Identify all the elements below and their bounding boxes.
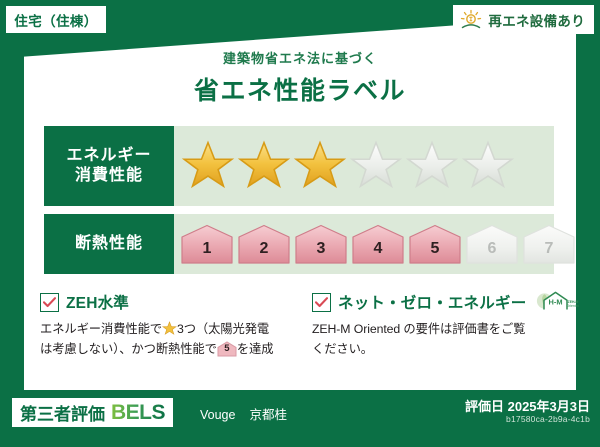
insulation-performance-label: 断熱性能: [44, 214, 174, 274]
net-zero-title: ネット・ゼロ・エネルギー: [338, 291, 526, 313]
net-zero-checkbox[interactable]: [312, 293, 331, 312]
house-step-number: 2: [260, 241, 269, 265]
energy-label-line2: 消費性能: [75, 166, 143, 186]
bels-jp-label: 第三者評価: [20, 400, 105, 425]
house-step-filled: 2: [237, 223, 291, 265]
top-banner: 住宅（住棟） 再エネ設備あり 建築物省エネ法に基づく 省エネ性能ラベル: [0, 0, 600, 118]
zeh-standard-description: エネルギー消費性能で3つ（太陽光発電 は考慮しない）、かつ断熱性能で5を達成: [40, 320, 316, 360]
energy-performance-label: エネルギー 消費性能: [44, 126, 174, 206]
house-strip: 1234567: [174, 223, 576, 265]
star-filled-icon: [292, 139, 348, 193]
property-info: Vouge京都桂: [200, 404, 287, 423]
inline-house-value: 5: [217, 341, 237, 357]
star-filled-icon: [236, 139, 292, 193]
star-empty-icon: [460, 139, 516, 193]
energy-label-root: 住宅（住棟） 再エネ設備あり 建築物省エネ法に基づく 省エネ性能ラベル: [0, 0, 600, 447]
evaluation-id: b17580ca-2b9a-4c1b: [506, 414, 590, 424]
zeh-desc-part3: を達成: [237, 342, 274, 356]
zeh-standard-header: ZEH水準: [40, 290, 316, 314]
star-filled-icon: [180, 139, 236, 193]
house-step-number: 6: [488, 241, 497, 265]
renewable-badge-label: 再エネ設備あり: [488, 10, 585, 30]
house-step-filled: 5: [408, 223, 462, 265]
zeh-desc-star-count: 3つ（太陽光発電: [177, 322, 269, 336]
page-title: 省エネ性能ラベル: [0, 71, 600, 107]
zeh-desc-part1: エネルギー消費性能で: [40, 322, 162, 336]
title-subtitle: 建築物省エネ法に基づく: [0, 48, 600, 67]
net-zero-desc-line2: ください。: [312, 342, 373, 356]
energy-label-line1: エネルギー: [66, 146, 151, 166]
house-step-filled: 1: [180, 223, 234, 265]
checkmark-icon: [315, 297, 328, 308]
renewable-equipment-badge: 再エネ設備あり: [453, 5, 594, 34]
net-zero-desc-line1: ZEH-M Oriented の要件は評価書をご覧: [312, 322, 525, 336]
footer-bar: 第三者評価 BELS Vouge京都桂 評価日 2025年3月3日 b17580…: [0, 390, 600, 447]
house-step-number: 7: [545, 241, 554, 265]
house-step-empty: 7: [522, 223, 576, 265]
house-step-filled: 4: [351, 223, 405, 265]
net-zero-header: ネット・ゼロ・エネルギー H-M ZEH-M Oriented: [312, 290, 588, 314]
house-step-number: 5: [431, 241, 440, 265]
insulation-performance-row: 断熱性能 1234567: [44, 214, 554, 274]
star-empty-icon: [348, 139, 404, 193]
star-strip: [174, 139, 516, 193]
energy-performance-row: エネルギー 消費性能: [44, 126, 554, 206]
house-step-filled: 3: [294, 223, 348, 265]
svg-text:Oriented: Oriented: [567, 304, 580, 308]
star-empty-icon: [404, 139, 460, 193]
zeh-standard-block: ZEH水準 エネルギー消費性能で3つ（太陽光発電 は考慮しない）、かつ断熱性能で…: [40, 290, 316, 360]
zeh-standard-title: ZEH水準: [66, 291, 129, 313]
inline-star-icon: [162, 321, 177, 336]
sun-icon: [459, 9, 483, 31]
zeh-section: ZEH水準 エネルギー消費性能で3つ（太陽光発電 は考慮しない）、かつ断熱性能で…: [24, 290, 576, 386]
zeh-desc-part2: は考慮しない）、かつ断熱性能で: [40, 342, 217, 356]
house-step-empty: 6: [465, 223, 519, 265]
house-type-tag: 住宅（住棟）: [6, 6, 106, 33]
bels-badge: 第三者評価 BELS: [12, 398, 173, 427]
house-step-number: 3: [317, 241, 326, 265]
net-zero-description: ZEH-M Oriented の要件は評価書をご覧 ください。: [312, 320, 588, 360]
energy-star-meter: [174, 126, 554, 206]
checkmark-icon: [43, 297, 56, 308]
house-type-label: 住宅（住棟）: [14, 10, 97, 30]
label-body: エネルギー 消費性能 断熱性能 1234567: [24, 118, 576, 390]
house-step-number: 4: [374, 241, 383, 265]
property-name: Vouge: [200, 408, 235, 422]
insulation-label-text: 断熱性能: [75, 234, 143, 254]
net-zero-energy-block: ネット・ゼロ・エネルギー H-M ZEH-M Oriented ZEH-M Or…: [312, 290, 588, 360]
evaluation-date: 評価日 2025年3月3日: [465, 396, 590, 415]
zeh-standard-checkbox[interactable]: [40, 293, 59, 312]
insulation-house-meter: 1234567: [174, 214, 554, 274]
house-step-number: 1: [203, 241, 212, 265]
property-area: 京都桂: [249, 408, 287, 422]
title-block: 建築物省エネ法に基づく 省エネ性能ラベル: [0, 48, 600, 107]
bels-en-logo: BELS: [111, 401, 165, 425]
svg-text:H-M: H-M: [549, 298, 563, 307]
zeh-m-oriented-logo-icon: H-M ZEH-M Oriented: [535, 289, 579, 315]
inline-house-badge: 5: [217, 341, 237, 357]
